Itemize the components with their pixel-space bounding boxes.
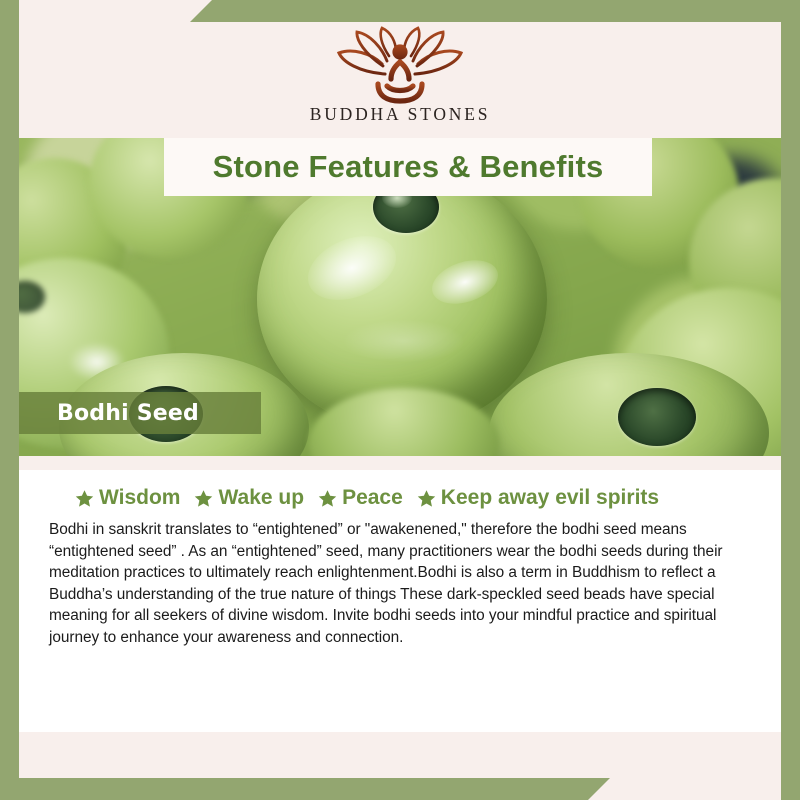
description-paragraph: Bodhi in sanskrit translates to “entight… (49, 519, 747, 649)
hero-caption-text: Bodhi Seed (57, 401, 199, 426)
benefit-label: Wake up (218, 486, 304, 510)
page-title: Stone Features & Benefits (213, 149, 604, 185)
frame-top-bar (0, 0, 800, 22)
section-title-band: Stone Features & Benefits (164, 138, 652, 196)
star-icon (75, 489, 94, 508)
description-section: Wisdom Wake up Peace (19, 456, 781, 732)
promo-page: BUDDHA STONES (0, 0, 800, 800)
star-icon (318, 489, 337, 508)
frame-left-bar (0, 0, 19, 800)
content-canvas: BUDDHA STONES (19, 22, 781, 778)
hero-caption-band: Bodhi Seed (19, 392, 261, 434)
star-icon (194, 489, 213, 508)
frame-bottom-bar (0, 778, 800, 800)
lotus-meditation-figure-icon (325, 26, 475, 106)
star-icon (417, 489, 436, 508)
brand-header: BUDDHA STONES (19, 22, 781, 138)
benefit-label: Wisdom (99, 486, 180, 510)
frame-right-bar (781, 0, 800, 800)
benefit-label: Keep away evil spirits (441, 486, 659, 510)
brand-name: BUDDHA STONES (310, 104, 490, 125)
body-top-tint (19, 456, 781, 470)
benefit-label: Peace (342, 486, 403, 510)
benefit-tag-wisdom: Wisdom (75, 486, 180, 510)
benefit-tag-wake-up: Wake up (194, 486, 304, 510)
benefit-tag-keep-away-evil-spirits: Keep away evil spirits (417, 486, 659, 510)
benefit-tag-peace: Peace (318, 486, 403, 510)
